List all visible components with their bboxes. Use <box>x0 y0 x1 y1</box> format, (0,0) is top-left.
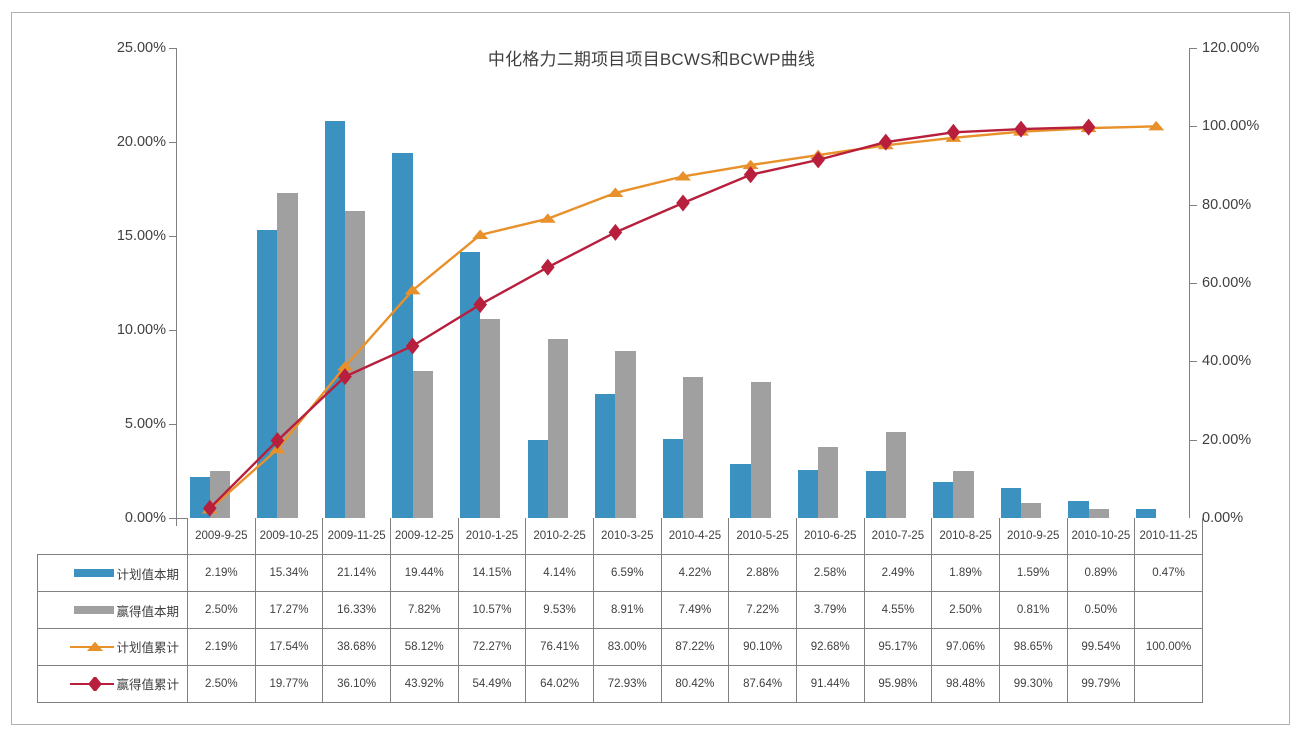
secondary-y-tick-label: 100.00% <box>1202 118 1303 134</box>
table-cell: 99.79% <box>1067 666 1135 703</box>
marker-diamond <box>406 337 420 354</box>
secondary-y-tick <box>1190 440 1197 441</box>
secondary-y-tick <box>1190 126 1197 127</box>
legend-cell-1[interactable]: 计划值本期 <box>38 555 188 592</box>
table-column-header: 2009-12-25 <box>390 518 458 555</box>
marker-triangle <box>540 213 556 222</box>
table-cell: 19.77% <box>255 666 323 703</box>
table-cell: 91.44% <box>796 666 864 703</box>
table-column-header: 2010-8-25 <box>932 518 1000 555</box>
table-row: 赢得值累计2.50%19.77%36.10%43.92%54.49%64.02%… <box>38 666 1203 703</box>
table-cell: 17.27% <box>255 592 323 629</box>
table-cell: 4.14% <box>526 555 594 592</box>
table-corner-cell <box>38 518 188 555</box>
table-cell: 92.68% <box>796 629 864 666</box>
primary-y-tick-label: 10.00% <box>56 322 166 338</box>
marker-diamond <box>676 195 690 212</box>
legend-swatch-icon <box>74 606 114 614</box>
table-cell: 97.06% <box>932 629 1000 666</box>
table-column-header: 2009-9-25 <box>188 518 256 555</box>
table-cell: 19.44% <box>390 555 458 592</box>
chart-plot-region: 中化格力二期项目项目BCWS和BCWP曲线 0.00%5.00%10.00%15… <box>12 13 1291 513</box>
primary-y-tick <box>169 236 176 237</box>
table-cell: 10.57% <box>458 592 526 629</box>
table-cell: 76.41% <box>526 629 594 666</box>
table-cell: 9.53% <box>526 592 594 629</box>
primary-y-tick <box>169 424 176 425</box>
marker-diamond <box>1082 119 1096 136</box>
table-cell: 3.79% <box>796 592 864 629</box>
table-cell: 98.65% <box>999 629 1067 666</box>
table-cell: 87.22% <box>661 629 729 666</box>
legend-swatch-icon <box>74 569 114 577</box>
table-cell: 7.49% <box>661 592 729 629</box>
table-row: 赢得值本期2.50%17.27%16.33%7.82%10.57%9.53%8.… <box>38 592 1203 629</box>
table-cell: 0.50% <box>1067 592 1135 629</box>
table-row: 计划值累计2.19%17.54%38.68%58.12%72.27%76.41%… <box>38 629 1203 666</box>
table-cell: 2.50% <box>188 592 256 629</box>
table-cell <box>1135 592 1203 629</box>
table-column-header: 2010-3-25 <box>593 518 661 555</box>
primary-y-tick <box>169 330 176 331</box>
table-cell: 2.19% <box>188 629 256 666</box>
table-cell: 90.10% <box>729 629 797 666</box>
legend-cell-3[interactable]: 计划值累计 <box>38 629 188 666</box>
table-cell: 1.89% <box>932 555 1000 592</box>
table-cell: 7.82% <box>390 592 458 629</box>
table-cell: 80.42% <box>661 666 729 703</box>
table-cell: 99.30% <box>999 666 1067 703</box>
table-cell: 54.49% <box>458 666 526 703</box>
table-cell: 14.15% <box>458 555 526 592</box>
legend-label: 赢得值累计 <box>116 674 179 693</box>
marker-diamond <box>609 224 623 241</box>
plot-area: 0.00%5.00%10.00%15.00%20.00%25.00% 0.00%… <box>176 48 1190 518</box>
table-column-header: 2010-9-25 <box>999 518 1067 555</box>
table-cell: 8.91% <box>593 592 661 629</box>
table-cell: 2.50% <box>932 592 1000 629</box>
table-cell: 58.12% <box>390 629 458 666</box>
primary-y-tick-label: 5.00% <box>56 416 166 432</box>
line-plan-cumulative <box>210 126 1156 509</box>
chart-data-table: 2009-9-252009-10-252009-11-252009-12-252… <box>37 518 1203 703</box>
table-cell: 2.50% <box>188 666 256 703</box>
table-column-header: 2010-6-25 <box>796 518 864 555</box>
table-row: 计划值本期2.19%15.34%21.14%19.44%14.15%4.14%6… <box>38 555 1203 592</box>
table-cell: 83.00% <box>593 629 661 666</box>
secondary-y-tick-label: 60.00% <box>1202 275 1303 291</box>
primary-y-tick <box>169 142 176 143</box>
table-column-header: 2010-2-25 <box>526 518 594 555</box>
table-header-row: 2009-9-252009-10-252009-11-252009-12-252… <box>38 518 1203 555</box>
table-cell: 38.68% <box>323 629 391 666</box>
table-cell: 98.48% <box>932 666 1000 703</box>
table-cell: 2.88% <box>729 555 797 592</box>
primary-y-tick-label: 15.00% <box>56 228 166 244</box>
table-column-header: 2010-1-25 <box>458 518 526 555</box>
legend-line-icon <box>70 640 114 654</box>
secondary-y-tick-label: 20.00% <box>1202 432 1303 448</box>
table-cell: 15.34% <box>255 555 323 592</box>
legend-label: 计划值本期 <box>116 564 179 583</box>
table-cell: 87.64% <box>729 666 797 703</box>
legend-cell-4[interactable]: 赢得值累计 <box>38 666 188 703</box>
table-column-header: 2010-7-25 <box>864 518 932 555</box>
table-cell: 100.00% <box>1135 629 1203 666</box>
table-cell: 95.17% <box>864 629 932 666</box>
secondary-y-tick <box>1190 48 1197 49</box>
table-cell: 64.02% <box>526 666 594 703</box>
table-cell: 72.93% <box>593 666 661 703</box>
primary-y-tick <box>169 48 176 49</box>
table-cell: 2.19% <box>188 555 256 592</box>
table-cell: 21.14% <box>323 555 391 592</box>
table-cell: 99.54% <box>1067 629 1135 666</box>
table-cell: 4.55% <box>864 592 932 629</box>
table-cell: 4.22% <box>661 555 729 592</box>
table-cell: 0.81% <box>999 592 1067 629</box>
secondary-y-tick-label: 0.00% <box>1202 510 1303 526</box>
table-column-header: 2009-10-25 <box>255 518 323 555</box>
secondary-y-tick <box>1190 205 1197 206</box>
secondary-y-tick <box>1190 283 1197 284</box>
table-cell: 0.47% <box>1135 555 1203 592</box>
table-cell: 17.54% <box>255 629 323 666</box>
table-cell: 2.58% <box>796 555 864 592</box>
table-cell: 16.33% <box>323 592 391 629</box>
legend-label: 计划值累计 <box>116 637 179 656</box>
table-column-header: 2010-4-25 <box>661 518 729 555</box>
table-cell: 95.98% <box>864 666 932 703</box>
table-cell: 1.59% <box>999 555 1067 592</box>
table-column-header: 2010-5-25 <box>729 518 797 555</box>
cumulative-lines-layer <box>176 48 1190 519</box>
legend-marker-triangle-icon <box>85 640 105 654</box>
table-cell: 36.10% <box>323 666 391 703</box>
table-column-header: 2010-11-25 <box>1135 518 1203 555</box>
table-cell <box>1135 666 1203 703</box>
table-column-header: 2009-11-25 <box>323 518 391 555</box>
secondary-y-tick-label: 40.00% <box>1202 353 1303 369</box>
marker-diamond <box>541 259 555 276</box>
table-cell: 6.59% <box>593 555 661 592</box>
legend-marker-diamond-icon <box>85 677 105 691</box>
secondary-y-tick <box>1190 361 1197 362</box>
table-cell: 2.49% <box>864 555 932 592</box>
legend-cell-2[interactable]: 赢得值本期 <box>38 592 188 629</box>
table-cell: 0.89% <box>1067 555 1135 592</box>
legend-label: 赢得值本期 <box>116 601 179 620</box>
table-cell: 7.22% <box>729 592 797 629</box>
legend-line-icon <box>70 677 114 691</box>
table-cell: 43.92% <box>390 666 458 703</box>
primary-y-tick-label: 20.00% <box>56 134 166 150</box>
chart-frame: 中化格力二期项目项目BCWS和BCWP曲线 0.00%5.00%10.00%15… <box>11 12 1290 725</box>
primary-y-tick-label: 25.00% <box>56 40 166 56</box>
table-column-header: 2010-10-25 <box>1067 518 1135 555</box>
marker-diamond <box>473 296 487 313</box>
table-cell: 72.27% <box>458 629 526 666</box>
secondary-y-tick-label: 120.00% <box>1202 40 1303 56</box>
secondary-y-tick-label: 80.00% <box>1202 197 1303 213</box>
